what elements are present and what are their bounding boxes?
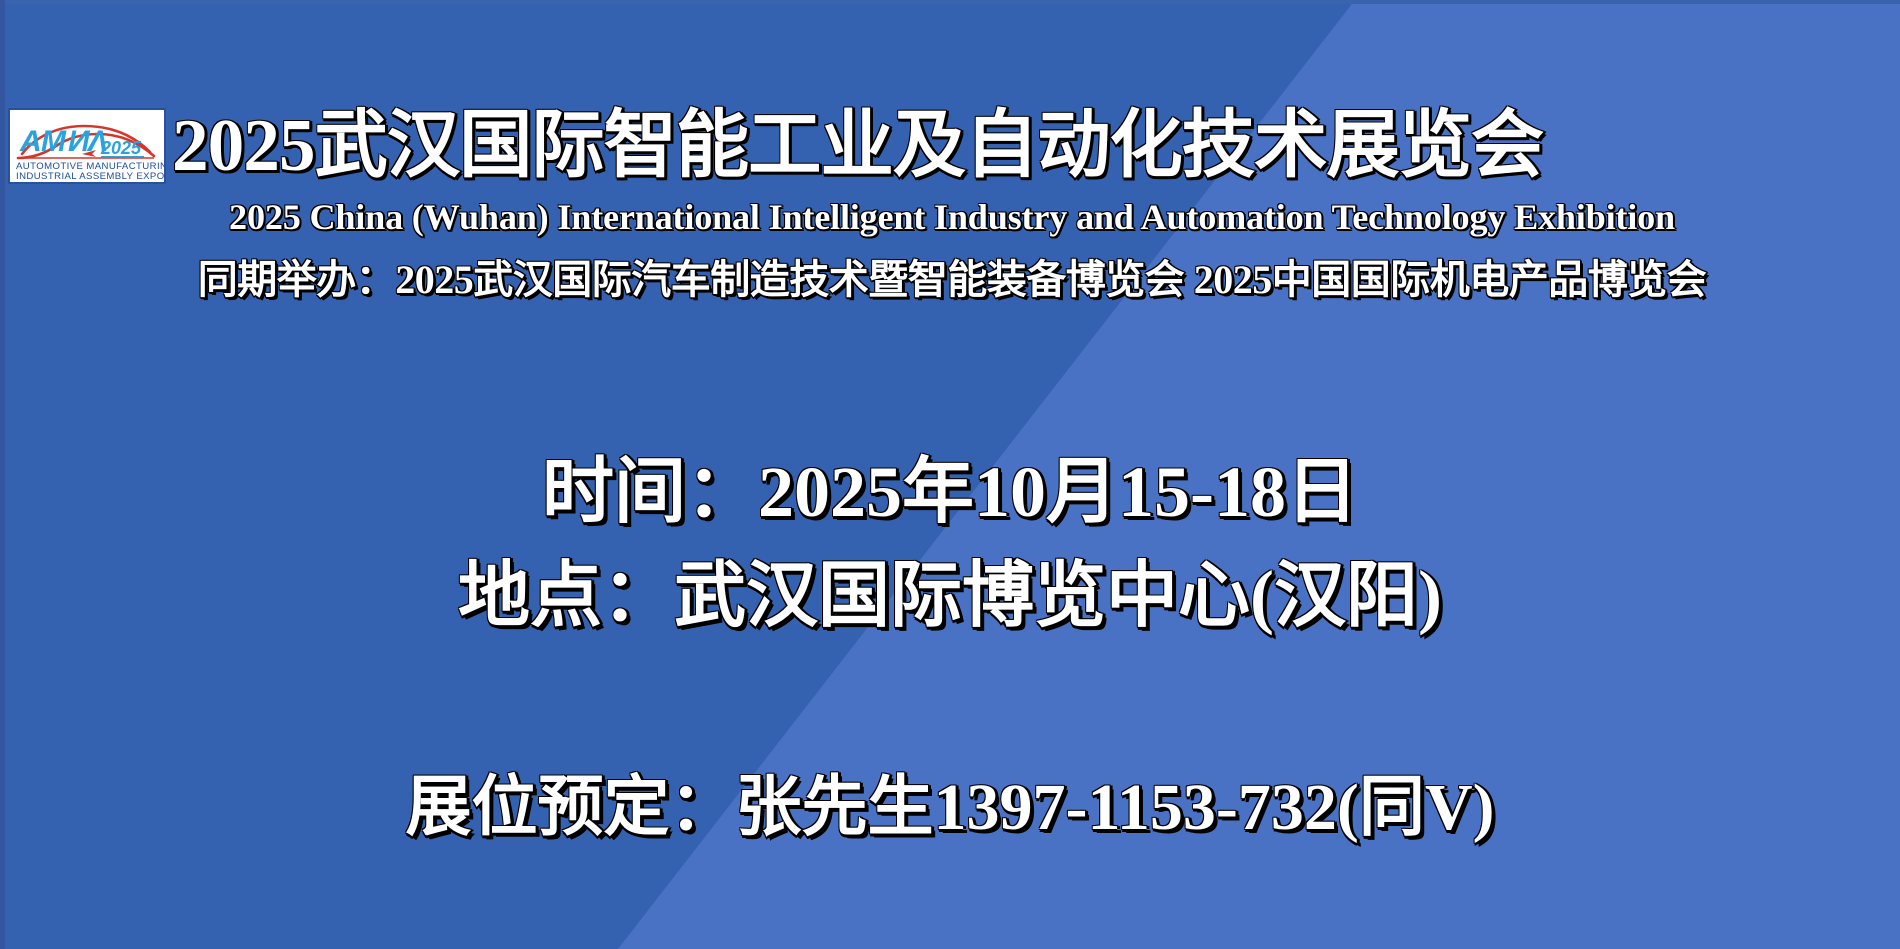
amia-logo-graphic: A M И Λ 2025 AUTOMOTIVE MANUFACTURING & …: [10, 110, 164, 182]
event-date-line: 时间：2025年10月15-18日: [0, 440, 1900, 544]
exhibition-title-en: 2025 China (Wuhan) International Intelli…: [7, 196, 1896, 238]
event-details: 时间：2025年10月15-18日 地点：武汉国际博览中心(汉阳) 展位预定：张…: [0, 440, 1900, 856]
svg-text:A: A: [19, 125, 41, 158]
booth-booking-line: 展位预定：张先生1397-1153-732(同V): [0, 760, 1900, 856]
amia-logo: A M И Λ 2025 AUTOMOTIVE MANUFACTURING & …: [8, 108, 166, 184]
amia-logo-tagline-2: INDUSTRIAL ASSEMBLY EXPO: [16, 171, 164, 182]
amia-logo-year: 2025: [100, 138, 142, 158]
background-top-edge: [0, 0, 1900, 4]
exhibition-title-cn: 2025武汉国际智能工业及自动化技术展览会: [172, 106, 1875, 186]
title-row: A M И Λ 2025 AUTOMOTIVE MANUFACTURING & …: [8, 100, 1892, 192]
svg-text:M: M: [41, 125, 67, 158]
event-venue-line: 地点：武汉国际博览中心(汉阳): [0, 544, 1900, 648]
concurrent-events-line: 同期举办：2025武汉国际汽车制造技术暨智能装备博览会 2025中国国际机电产品…: [12, 256, 1892, 304]
exhibition-poster: A M И Λ 2025 AUTOMOTIVE MANUFACTURING & …: [0, 0, 1900, 949]
